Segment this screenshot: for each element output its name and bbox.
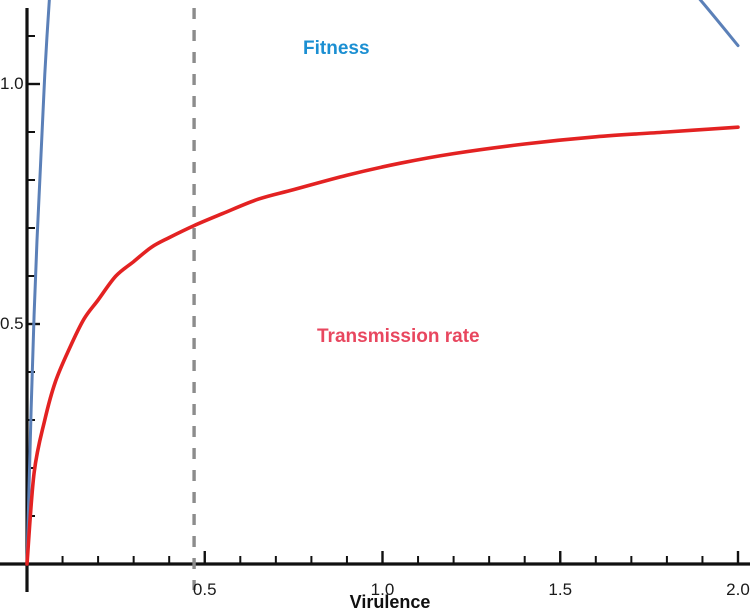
x-tick-label: 0.5 (175, 580, 235, 600)
data-series-lines (27, 0, 738, 564)
x-tick-label: 2.0 (708, 580, 750, 600)
y-tick-label: 0.5 (0, 314, 20, 334)
x-axis-ticks (27, 551, 738, 564)
chart-container: 0.51.01.52.0 0.51.01.52.0 Virulence Fitn… (0, 0, 750, 615)
y-tick-label: 1.0 (0, 74, 20, 94)
series-line-fitness (27, 0, 738, 564)
x-tick-label: 1.5 (530, 580, 590, 600)
axis-lines (0, 8, 750, 592)
series-label-transmission: Transmission rate (317, 326, 480, 348)
series-label-fitness: Fitness (303, 38, 370, 60)
plot-area (0, 0, 750, 615)
x-axis-title: Virulence (330, 592, 450, 613)
